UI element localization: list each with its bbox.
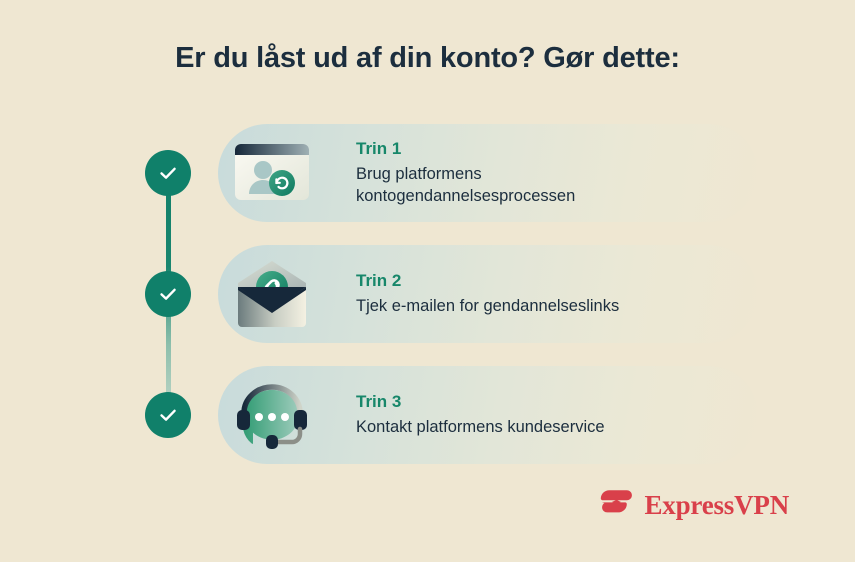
step-card-3: Trin 3 Kontakt platformens kundeservice [218,366,758,464]
timeline-node-1 [145,150,191,196]
step-card-2: Trin 2 Tjek e-mailen for gendannelseslin… [218,245,758,343]
step-description-1: Brug platformens kontogendannelsesproces… [356,164,575,208]
expressvpn-e-logo-icon [599,487,635,524]
step-heading-2: Trin 2 [356,270,619,291]
step-text-1: Trin 1 Brug platformens kontogendannelse… [326,138,575,207]
brand-logo: ExpressVPN [599,487,789,524]
account-recovery-window-icon [218,124,326,222]
step-text-2: Trin 2 Tjek e-mailen for gendannelseslin… [326,270,619,317]
infographic-root: Er du låst ud af din konto? Gør dette: [0,0,855,562]
check-icon [156,161,180,185]
timeline-node-2 [145,271,191,317]
step-heading-1: Trin 1 [356,138,575,159]
page-title: Er du låst ud af din konto? Gør dette: [0,42,855,75]
step-description-3: Kontakt platformens kundeservice [356,417,605,439]
headset-chat-support-icon [218,366,326,464]
brand-wordmark: ExpressVPN [644,490,789,521]
step-text-3: Trin 3 Kontakt platformens kundeservice [326,391,605,438]
step-heading-3: Trin 3 [356,391,605,412]
check-icon [156,282,180,306]
step-description-2: Tjek e-mailen for gendannelseslinks [356,296,619,318]
timeline-rail [145,150,191,440]
open-envelope-link-icon [218,245,326,343]
timeline-node-3 [145,392,191,438]
check-icon [156,403,180,427]
step-card-1: Trin 1 Brug platformens kontogendannelse… [218,124,758,222]
